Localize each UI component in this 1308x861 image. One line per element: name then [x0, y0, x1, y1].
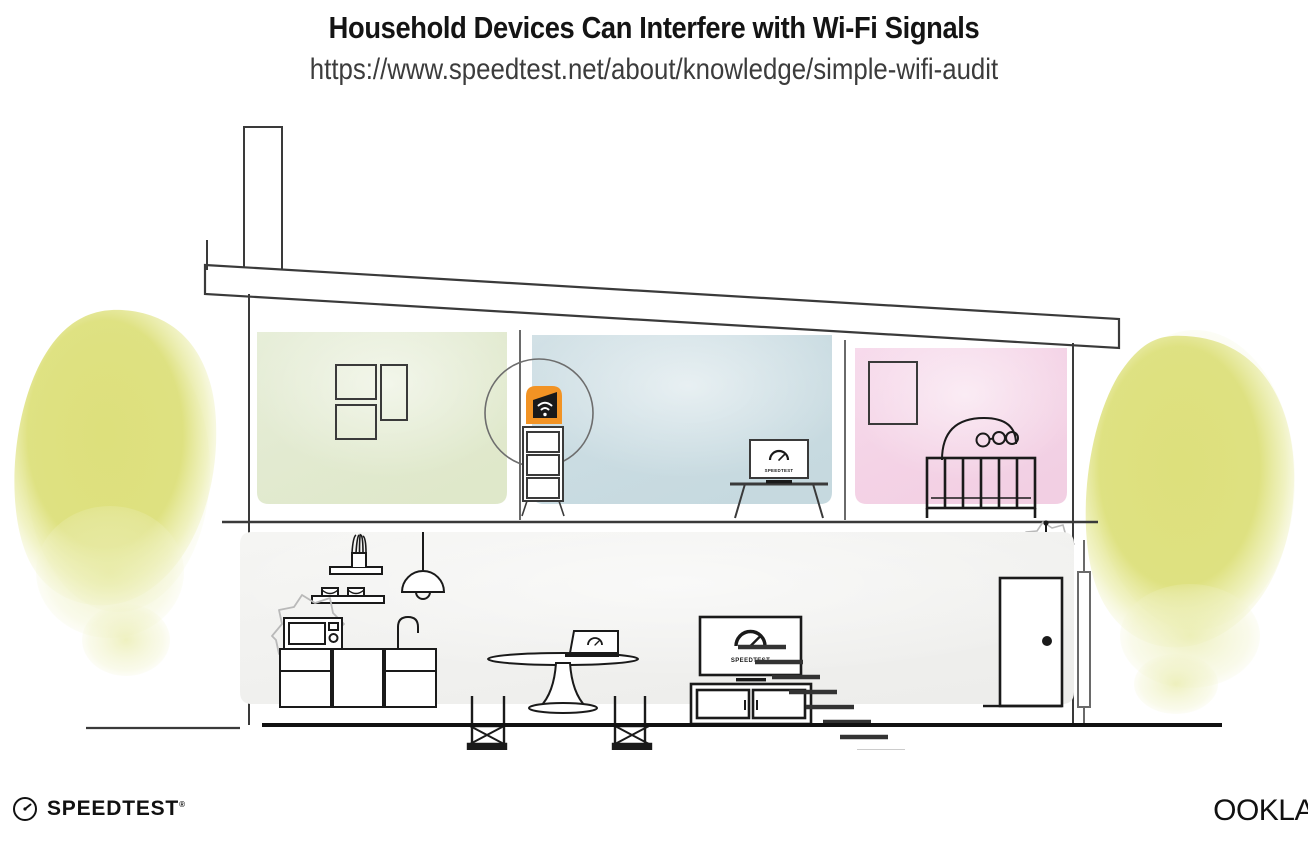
speedometer-icon: [12, 796, 38, 822]
chimney: [244, 127, 282, 277]
door-knob-icon[interactable]: [1042, 636, 1052, 646]
monitor[interactable]: SPEEDTEST: [750, 440, 808, 483]
house-cutaway-svg: SPEEDTEST: [0, 100, 1308, 750]
header: Household Devices Can Interfere with Wi-…: [0, 0, 1308, 87]
tree-right: [1086, 330, 1295, 714]
ground-line: [86, 725, 1222, 728]
house-illustration: SPEEDTEST: [0, 100, 1308, 750]
kitchen-counters: [280, 649, 436, 707]
infographic-root: Household Devices Can Interfere with Wi-…: [0, 0, 1308, 861]
ookla-logo[interactable]: OOKLA: [1213, 794, 1308, 828]
laptop[interactable]: [565, 631, 619, 657]
wifi-router[interactable]: [526, 386, 562, 424]
footer: SPEEDTEST® OOKLA: [0, 782, 1308, 852]
tree-left: [14, 310, 216, 676]
speedtest-logo[interactable]: SPEEDTEST®: [12, 796, 185, 822]
monitor-screen-label: SPEEDTEST: [765, 468, 794, 473]
speedtest-trademark: ®: [179, 800, 185, 809]
speedtest-wordmark: SPEEDTEST®: [47, 797, 185, 821]
ookla-wordmark: OOKLA: [1213, 794, 1308, 827]
page-title: Household Devices Can Interfere with Wi-…: [78, 10, 1229, 46]
source-url: https://www.speedtest.net/about/knowledg…: [92, 53, 1217, 88]
speedtest-wordmark-text: SPEEDTEST: [47, 797, 179, 820]
microwave: [284, 618, 342, 649]
sidelight-window: [1078, 540, 1090, 725]
